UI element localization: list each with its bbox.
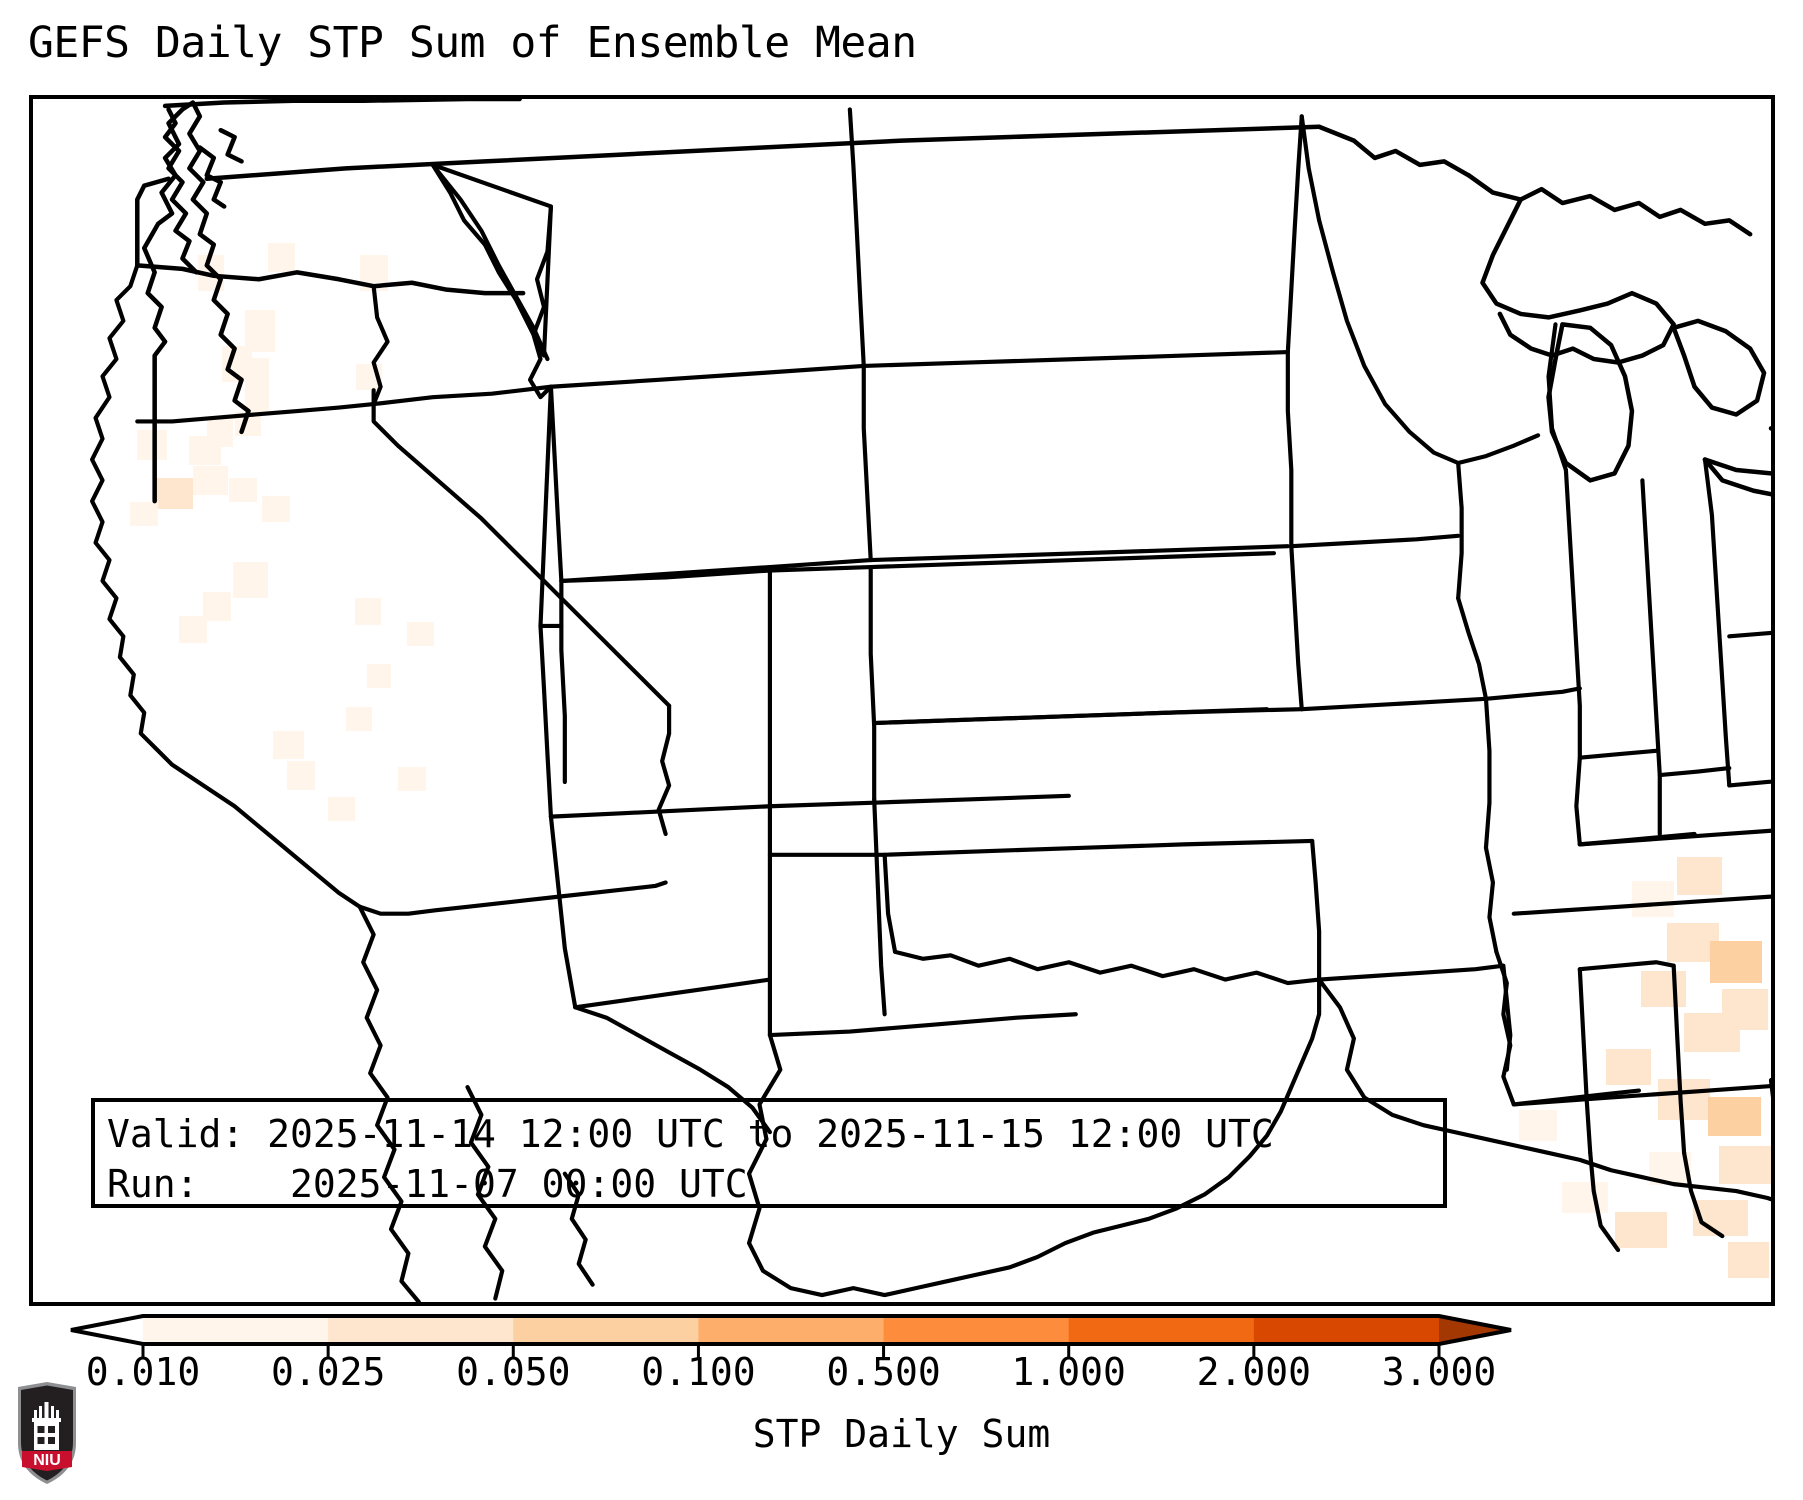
run-time-line: Run: 2025-11-07 00:00 UTC (107, 1159, 1443, 1209)
colorbar-tick-label: 0.010 (86, 1350, 200, 1394)
map-frame: Valid: 2025-11-14 12:00 UTC to 2025-11-1… (29, 95, 1775, 1306)
colorbar-segment (513, 1316, 699, 1344)
colorbar-tick-label: 0.025 (271, 1350, 385, 1394)
colorbar-extend-high (1439, 1316, 1511, 1344)
colorbar-segment (884, 1316, 1070, 1344)
colorbar-tick-label: 3.000 (1382, 1350, 1496, 1394)
colorbar-tick-label: 0.500 (826, 1350, 940, 1394)
colorbar-tick-label: 0.100 (641, 1350, 755, 1394)
colorbar-extend-low (71, 1316, 143, 1344)
colorbar-segment (143, 1316, 329, 1344)
niu-logo: NIU (16, 1381, 78, 1485)
colorbar-segment (698, 1316, 884, 1344)
colorbar-tick-label: 2.000 (1197, 1350, 1311, 1394)
colorbar-segment (1254, 1316, 1440, 1344)
page-title: GEFS Daily STP Sum of Ensemble Mean (28, 18, 917, 68)
logo-text: NIU (33, 1452, 61, 1469)
colorbar-segment (328, 1316, 514, 1344)
colorbar-tick-label: 1.000 (1012, 1350, 1126, 1394)
valid-time-line: Valid: 2025-11-14 12:00 UTC to 2025-11-1… (107, 1109, 1443, 1159)
colorbar-title: STP Daily Sum (0, 1412, 1803, 1456)
colorbar-segment (1069, 1316, 1255, 1344)
info-box: Valid: 2025-11-14 12:00 UTC to 2025-11-1… (91, 1098, 1447, 1208)
colorbar-tick-label: 0.050 (456, 1350, 570, 1394)
colorbar[interactable]: 0.0100.0250.0500.1000.5001.0002.0003.000 (0, 1306, 1803, 1426)
